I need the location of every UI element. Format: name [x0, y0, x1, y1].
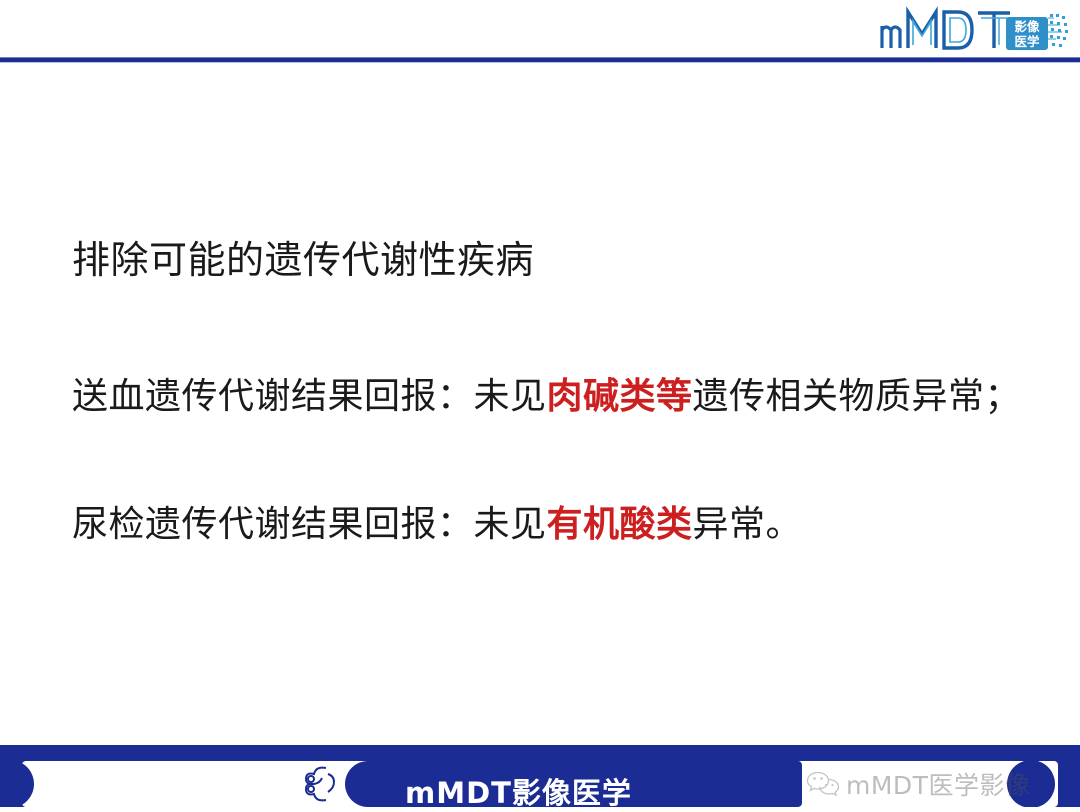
svg-text:医学: 医学	[1014, 34, 1040, 49]
urine-line-prefix: 尿检遗传代谢结果回报：未见	[72, 504, 547, 545]
urine-result-line: 尿检遗传代谢结果回报：未见有机酸类异常。	[72, 503, 802, 547]
blood-line-prefix: 送血遗传代谢结果回报：未见	[72, 376, 547, 417]
slide-content: 排除可能的遗传代谢性疾病 送血遗传代谢结果回报：未见肉碱类等遗传相关物质异常； …	[0, 63, 1080, 735]
blood-line-highlight: 肉碱类等	[547, 376, 693, 417]
urine-line-suffix: 异常。	[693, 504, 803, 545]
slide-title-text: 排除可能的遗传代谢性疾病	[72, 238, 534, 282]
slide-title: 排除可能的遗传代谢性疾病	[72, 237, 534, 283]
footer-band: mMDT影像医学	[0, 750, 1080, 808]
footer-brand-label: mMDT影像医学	[405, 770, 805, 812]
blood-line-suffix: 遗传相关物质异常；	[693, 376, 1022, 417]
wechat-watermark: mMDT医学影像	[806, 762, 1016, 806]
urine-line-highlight: 有机酸类	[547, 504, 693, 545]
svg-text:影像: 影像	[1014, 19, 1040, 34]
slide-header: 影像 医学	[0, 0, 1080, 58]
ruyi-cloud-icon-right	[753, 762, 801, 806]
blood-result-line: 送血遗传代谢结果回报：未见肉碱类等遗传相关物质异常；	[72, 375, 1021, 419]
slide-footer: mMDT影像医学	[0, 745, 1080, 810]
wechat-icon	[806, 770, 840, 798]
ruyi-cloud-icon	[296, 762, 344, 806]
mmdt-brand-logo: 影像 医学	[876, 4, 1072, 54]
watermark-text: mMDT医学影像	[846, 766, 1030, 802]
slide-root: 影像 医学 排除可能的遗传代谢性疾病	[0, 0, 1080, 810]
